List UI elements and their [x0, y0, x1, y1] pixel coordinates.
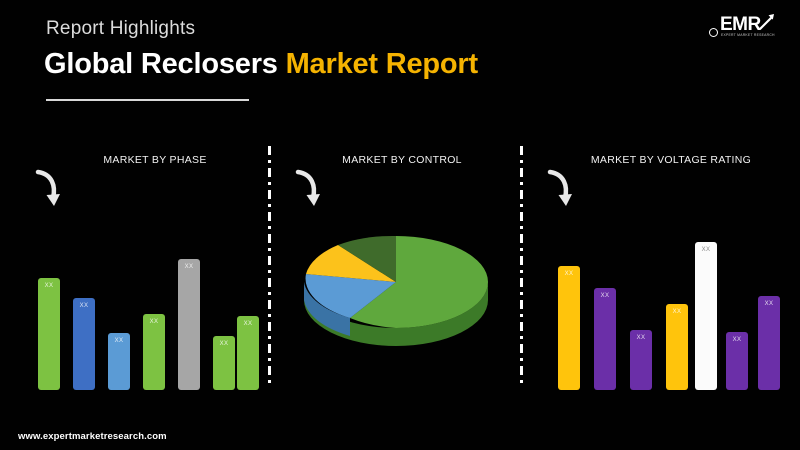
bar-item: XX: [108, 333, 130, 390]
panel-divider-1: [268, 146, 271, 384]
panel-divider-2: [520, 146, 523, 384]
report-kicker: Report Highlights: [46, 18, 195, 40]
bar-item: XX: [630, 330, 652, 390]
page-title-primary: Global Reclosers: [44, 48, 278, 80]
curved-arrow-icon: [292, 166, 326, 212]
bar-value-label: XX: [178, 264, 200, 270]
bar-value-label: XX: [237, 321, 259, 327]
bar-item: XX: [695, 242, 717, 390]
bar-item: XX: [758, 296, 780, 390]
panel-market-by-voltage-rating: MARKET BY VOLTAGE RATING XX XX XX XX XX …: [536, 140, 784, 390]
bar-value-label: XX: [38, 283, 60, 289]
panel-market-by-phase: MARKET BY PHASE XX XX XX XX XX XX XX: [24, 140, 260, 390]
logo-tagline: EXPERT MARKET RESEARCH: [721, 33, 775, 37]
bar-item: XX: [237, 316, 259, 390]
bar-chart-phase: XX XX XX XX XX XX XX: [24, 204, 260, 390]
bar-item: XX: [594, 288, 616, 390]
bar-value-label: XX: [726, 337, 748, 343]
bar-item: XX: [143, 314, 165, 390]
emr-logo[interactable]: EMR EXPERT MARKET RESEARCH: [706, 9, 784, 43]
section-title: MARKET BY CONTROL: [284, 154, 506, 166]
section-title: MARKET BY PHASE: [24, 154, 260, 166]
bar-value-label: XX: [73, 303, 95, 309]
section-title: MARKET BY VOLTAGE RATING: [536, 154, 784, 166]
bar-item: XX: [726, 332, 748, 390]
bar-value-label: XX: [666, 309, 688, 315]
title-underline-rule: [46, 99, 249, 101]
bar-item: XX: [38, 278, 60, 390]
bar-value-label: XX: [213, 341, 235, 347]
bar-value-label: XX: [594, 293, 616, 299]
bar-item: XX: [213, 336, 235, 390]
bar-value-label: XX: [630, 335, 652, 341]
bar-item: XX: [558, 266, 580, 390]
bar-value-label: XX: [695, 247, 717, 253]
pie-chart-control: [298, 220, 494, 350]
bar-item: XX: [666, 304, 688, 390]
bar-value-label: XX: [143, 319, 165, 325]
bar-value-label: XX: [108, 338, 130, 344]
page-title: Global Reclosers Market Report: [44, 48, 478, 81]
bar-value-label: XX: [558, 271, 580, 277]
panel-market-by-control: MARKET BY CONTROL: [284, 140, 506, 390]
logo-ring-icon: [709, 28, 718, 37]
website-url[interactable]: www.expertmarketresearch.com: [18, 431, 167, 442]
bar-value-label: XX: [758, 301, 780, 307]
slide-root: Report Highlights Global Reclosers Marke…: [0, 0, 800, 450]
bar-item: XX: [73, 298, 95, 390]
bar-chart-voltage: XX XX XX XX XX XX XX: [536, 204, 784, 390]
page-title-accent: Market Report: [286, 48, 478, 80]
bar-item: XX: [178, 259, 200, 390]
